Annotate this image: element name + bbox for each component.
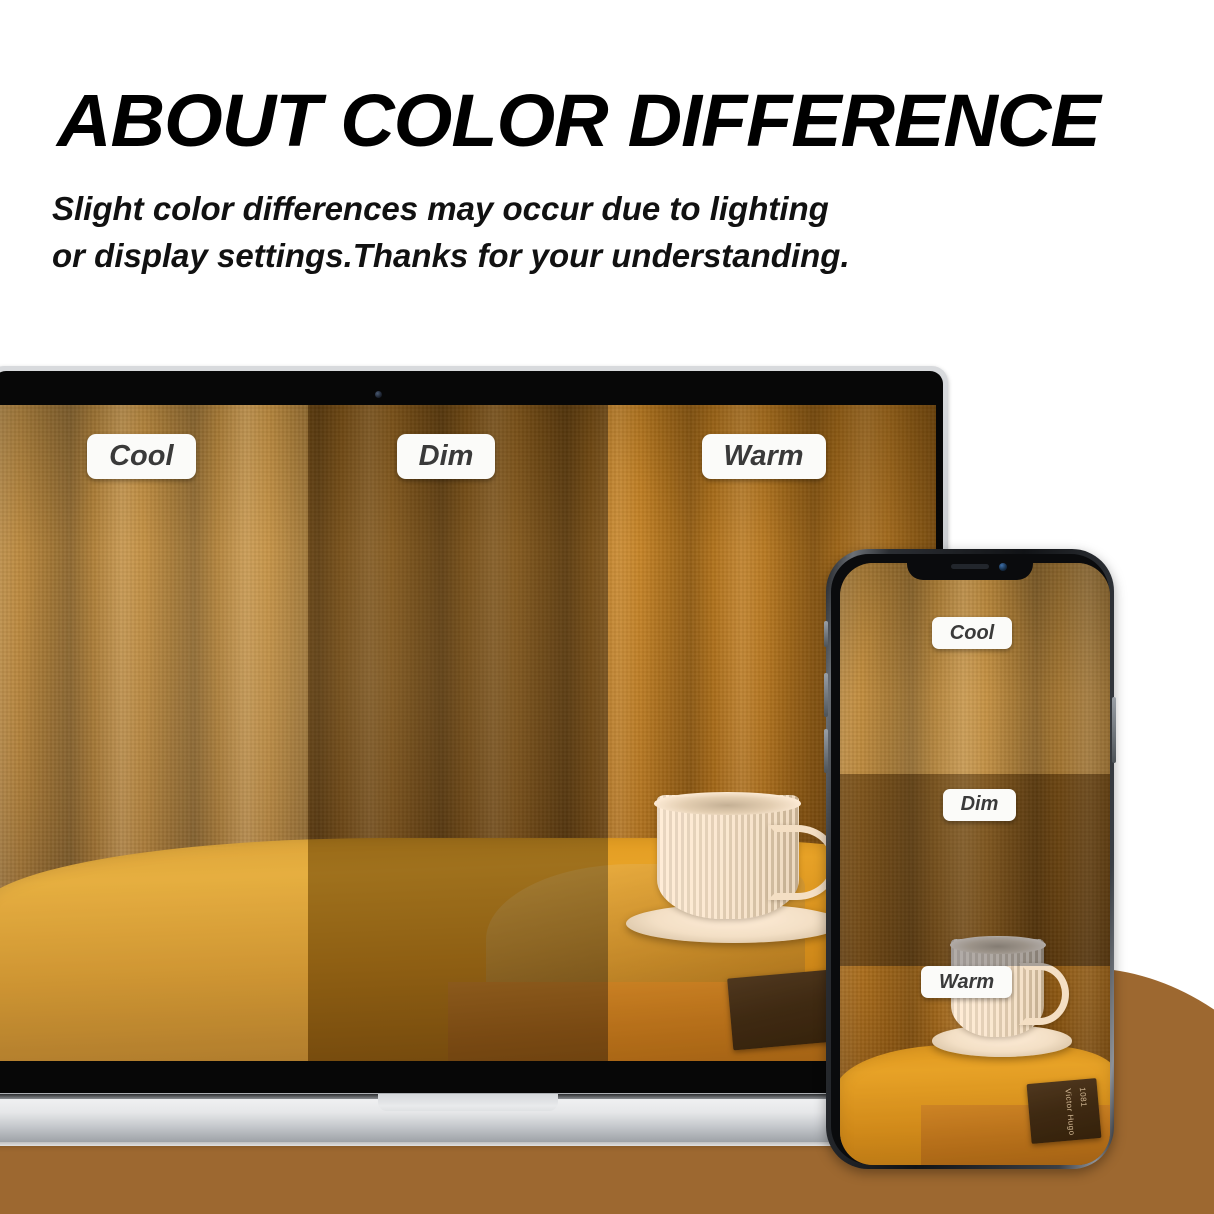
laptop-bezel: 1081 Victor Hugo CoolDimWarm bbox=[0, 371, 943, 1093]
laptop-base bbox=[0, 1094, 962, 1142]
laptop-color-bands bbox=[0, 405, 936, 1061]
phone-inner-bezel: 1081 Victor Hugo CoolDimWarm bbox=[831, 554, 1109, 1164]
subtitle-line-1: Slight color differences may occur due t… bbox=[52, 186, 1052, 233]
subtitle-line-2: or display settings.Thanks for your unde… bbox=[52, 233, 1052, 280]
phone-band-cool bbox=[840, 563, 1110, 774]
laptop-band-dim bbox=[308, 405, 608, 1061]
laptop-device: 1081 Victor Hugo CoolDimWarm bbox=[0, 366, 948, 1146]
phone-label-warm: Warm bbox=[921, 966, 1012, 998]
phone-color-bands bbox=[840, 563, 1110, 1165]
front-camera-icon bbox=[999, 563, 1007, 571]
mute-switch-button[interactable] bbox=[824, 621, 828, 647]
phone-label-dim: Dim bbox=[943, 789, 1017, 821]
volume-up-button[interactable] bbox=[824, 673, 828, 717]
volume-down-button[interactable] bbox=[824, 729, 828, 773]
laptop-label-warm: Warm bbox=[702, 434, 826, 479]
webcam-icon bbox=[375, 391, 382, 398]
laptop-lid: 1081 Victor Hugo CoolDimWarm bbox=[0, 366, 948, 1101]
laptop-band-cool bbox=[0, 405, 308, 1061]
page-subtitle: Slight color differences may occur due t… bbox=[52, 186, 1052, 280]
phone-screen: 1081 Victor Hugo CoolDimWarm bbox=[840, 563, 1110, 1165]
phone-label-cool: Cool bbox=[932, 617, 1012, 649]
phone-device: 1081 Victor Hugo CoolDimWarm bbox=[826, 549, 1114, 1169]
page-title: ABOUT COLOR DIFFERENCE bbox=[57, 84, 1100, 158]
power-button[interactable] bbox=[1112, 697, 1116, 763]
phone-notch bbox=[907, 554, 1033, 580]
earpiece-speaker-icon bbox=[951, 564, 989, 569]
laptop-base-notch bbox=[378, 1094, 558, 1111]
headline-block: ABOUT COLOR DIFFERENCE Slight color diff… bbox=[0, 0, 1214, 340]
phone-frame: 1081 Victor Hugo CoolDimWarm bbox=[826, 549, 1114, 1169]
laptop-label-dim: Dim bbox=[397, 434, 496, 479]
laptop-label-cool: Cool bbox=[87, 434, 195, 479]
laptop-screen: 1081 Victor Hugo CoolDimWarm bbox=[0, 405, 936, 1061]
